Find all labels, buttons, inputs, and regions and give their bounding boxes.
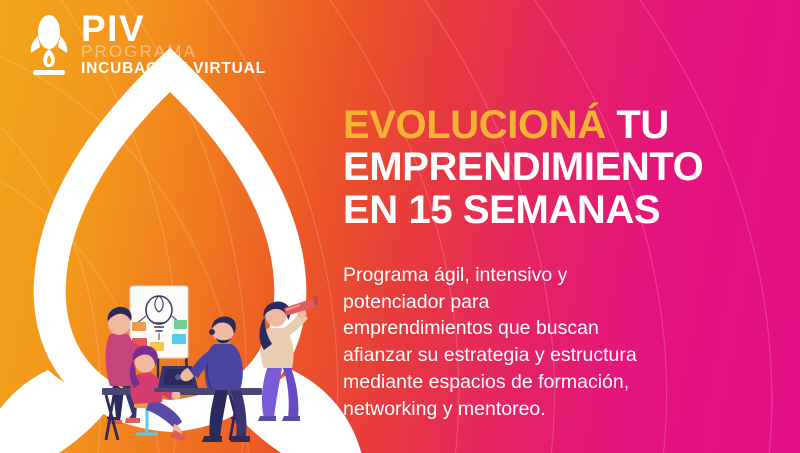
headline: EVOLUCIONÁ TU EMPRENDIMIENTO EN 15 SEMAN… [343, 104, 763, 231]
woman-with-telescope [258, 295, 318, 421]
headline-line-3: EN 15 SEMANAS [343, 189, 763, 231]
promo-banner: PIV PROGRAMA INCUBACIÓN VIRTUAL EVOLUCIO… [0, 0, 800, 453]
rocket-icon [26, 8, 72, 78]
headline-highlight: EVOLUCIONÁ [343, 103, 606, 147]
team-brainstorming-illustration [88, 262, 318, 447]
headline-line-1: EVOLUCIONÁ TU [343, 104, 763, 146]
body-line-6: networking y mentoreo. [343, 396, 723, 423]
headline-line-2: EMPRENDIMIENTO [343, 146, 763, 188]
man-standing-gesturing [180, 316, 250, 442]
body-line-4: afianzar su estrategia y estructura [343, 342, 723, 369]
headline-line-1-rest: TU [606, 103, 669, 147]
body-copy: Programa ágil, intensivo y potenciador p… [343, 262, 723, 422]
logo-acronym: PIV [81, 11, 266, 46]
logo-incubacion-virtual-label: INCUBACIÓN VIRTUAL [81, 61, 266, 77]
body-line-5: mediante espacios de formación, [343, 369, 723, 396]
logo-programa-label: PROGRAMA [81, 43, 266, 60]
piv-logo: PIV PROGRAMA INCUBACIÓN VIRTUAL [26, 8, 266, 78]
body-line-3: emprendimientos que buscan [343, 315, 723, 342]
body-line-2: potenciador para [343, 289, 723, 316]
body-line-1: Programa ágil, intensivo y [343, 262, 723, 289]
